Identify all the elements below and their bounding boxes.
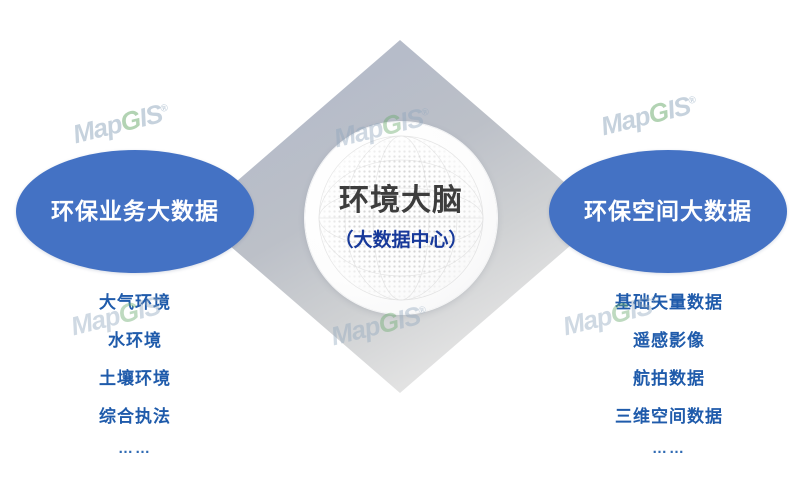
watermark-logo: MapGIS® xyxy=(598,89,700,143)
left-node-business-big-data[interactable]: 环保业务大数据 xyxy=(16,150,254,273)
list-item: 航拍数据 xyxy=(549,364,789,389)
list-item: 三维空间数据 xyxy=(549,402,789,427)
watermark-part-map: Map xyxy=(70,108,125,149)
right-node-label: 环保空间大数据 xyxy=(558,197,778,226)
center-node-environment-brain[interactable]: 环境大脑 （大数据中心） xyxy=(305,122,497,314)
center-node-title: 环境大脑 xyxy=(339,184,463,219)
watermark-registered-mark: ® xyxy=(687,95,696,107)
list-item: 土壤环境 xyxy=(15,364,255,389)
right-node-item-list: 基础矢量数据 遥感影像 航拍数据 三维空间数据 …… xyxy=(549,288,789,457)
list-item: 基础矢量数据 xyxy=(549,288,789,313)
center-node-subtitle: （大数据中心） xyxy=(334,225,467,252)
left-node-label: 环保业务大数据 xyxy=(25,197,245,226)
watermark-part-g: G xyxy=(117,104,143,138)
watermark-part-is: IS xyxy=(664,90,693,125)
watermark-registered-mark: ® xyxy=(159,103,168,115)
diagram-canvas: 环境大脑 （大数据中心） 环保业务大数据 环保空间大数据 大气环境 水环境 土壤… xyxy=(0,0,808,493)
watermark-part-is: IS xyxy=(136,98,165,133)
watermark-logo: MapGIS® xyxy=(70,97,172,151)
watermark-part-g: G xyxy=(645,96,671,130)
right-node-spatial-big-data[interactable]: 环保空间大数据 xyxy=(549,150,787,273)
list-item: 大气环境 xyxy=(15,288,255,313)
watermark-part-map: Map xyxy=(598,100,653,141)
list-item-ellipsis: …… xyxy=(549,440,789,457)
list-item: 水环境 xyxy=(15,326,255,351)
left-node-item-list: 大气环境 水环境 土壤环境 综合执法 …… xyxy=(15,288,255,457)
list-item: 遥感影像 xyxy=(549,326,789,351)
list-item-ellipsis: …… xyxy=(15,440,255,457)
list-item: 综合执法 xyxy=(15,402,255,427)
